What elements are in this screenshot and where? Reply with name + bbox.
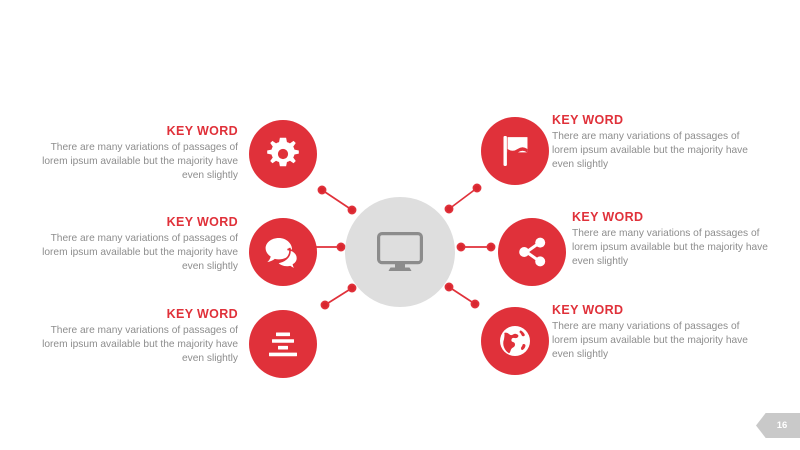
node-title: KEY WORD: [38, 307, 238, 322]
node-body-text: There are many variations of passages of…: [552, 130, 752, 173]
node-text-middle-left: KEY WORD There are many variations of pa…: [38, 215, 238, 275]
node-circle-middle-left[interactable]: [249, 218, 317, 286]
node-text-middle-right: KEY WORD There are many variations of pa…: [572, 210, 772, 270]
flag-icon: [499, 134, 531, 168]
share-icon: [516, 236, 548, 268]
node-body-text: There are many variations of passages of…: [552, 320, 752, 363]
slide-canvas: KEY WORD There are many variations of pa…: [0, 0, 800, 450]
node-circle-top-right[interactable]: [481, 117, 549, 185]
monitor-icon: [377, 232, 423, 272]
node-body-text: There are many variations of passages of…: [572, 227, 772, 270]
node-title: KEY WORD: [38, 124, 238, 139]
node-title: KEY WORD: [38, 215, 238, 230]
node-circle-middle-right[interactable]: [498, 218, 566, 286]
node-body-text: There are many variations of passages of…: [38, 324, 238, 367]
node-text-top-right: KEY WORD There are many variations of pa…: [552, 113, 752, 173]
globe-icon: [498, 324, 532, 358]
node-text-top-left: KEY WORD There are many variations of pa…: [38, 124, 238, 184]
align-center-icon: [267, 329, 299, 359]
gear-icon: [266, 137, 300, 171]
chat-bubbles-icon: [265, 236, 301, 268]
node-circle-bottom-right[interactable]: [481, 307, 549, 375]
node-body-text: There are many variations of passages of…: [38, 232, 238, 275]
node-title: KEY WORD: [552, 303, 752, 318]
node-title: KEY WORD: [552, 113, 752, 128]
node-text-bottom-right: KEY WORD There are many variations of pa…: [552, 303, 752, 363]
node-circle-top-left[interactable]: [249, 120, 317, 188]
node-text-bottom-left: KEY WORD There are many variations of pa…: [38, 307, 238, 367]
node-title: KEY WORD: [572, 210, 772, 225]
page-number-badge: 16: [756, 413, 800, 438]
node-body-text: There are many variations of passages of…: [38, 141, 238, 184]
node-circle-bottom-left[interactable]: [249, 310, 317, 378]
center-hub[interactable]: [345, 197, 455, 307]
